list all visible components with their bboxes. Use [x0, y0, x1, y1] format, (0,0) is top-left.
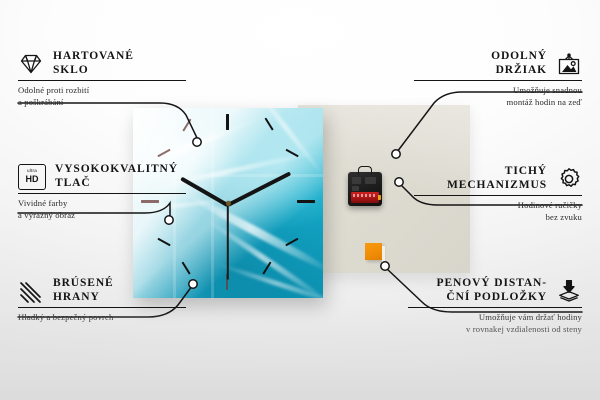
feature-polished-edges[interactable]: BRÚSENÉ HRANY Hladký a bezpečný povrch — [18, 277, 186, 324]
feature-title-line1: ODOLNÝ — [414, 50, 547, 64]
feature-foam-spacer-pads[interactable]: PENOVÝ DISTAN- ČNÍ PODLOŽKY Umožňuje vám… — [408, 277, 582, 335]
feature-head: ultra HD VYSOKOKVALITNÝ TLAČ — [18, 163, 186, 190]
clock-tick-12 — [226, 114, 228, 130]
press-down-layers-icon — [556, 278, 582, 304]
feature-desc-line1: Umožňuje snadnou — [414, 85, 582, 96]
battery-label — [353, 194, 376, 197]
mechanism-detail — [365, 177, 376, 184]
feature-desc-line1: Umožňuje vám držať hodiny — [408, 312, 582, 323]
ultra-hd-icon-main: HD — [26, 175, 39, 184]
feature-desc-line2: v rovnakej vzdialenosti od steny — [408, 324, 582, 335]
second-hand — [227, 204, 229, 280]
feature-title-line1: VYSOKOKVALITNÝ — [55, 163, 178, 177]
feature-desc-line2: a poškrábání — [18, 97, 186, 108]
feature-head: ODOLNÝ DRŽIAK — [414, 50, 582, 77]
feature-head: TICHÝ MECHANIZMUS — [414, 165, 582, 192]
feature-head: PENOVÝ DISTAN- ČNÍ PODLOŽKY — [408, 277, 582, 304]
mechanism-detail — [352, 186, 359, 191]
clock-center-pin — [226, 201, 231, 206]
feature-divider — [18, 307, 186, 308]
feature-durable-hanger[interactable]: ODOLNÝ DRŽIAK Umožňuje snadnou montáž ho… — [414, 50, 582, 108]
feature-divider — [414, 80, 582, 81]
feature-title-line2: TLAČ — [55, 177, 178, 191]
feature-desc-line1: Odolné proti rozbití — [18, 85, 186, 96]
feature-desc-line2: bez zvuku — [414, 212, 582, 223]
feature-desc-line1: Vividné farby — [18, 198, 186, 209]
clock-tick-3 — [297, 200, 315, 203]
feature-title-line2: DRŽIAK — [414, 64, 547, 78]
feature-divider — [414, 195, 582, 196]
feature-title-line2: HRANY — [53, 291, 114, 305]
feature-desc-line1: Hodinové ručičky — [414, 200, 582, 211]
feature-desc-line1: Hladký a bezpečný povrch — [18, 312, 186, 323]
feature-divider — [18, 80, 186, 81]
feature-title-line2: ČNÍ PODLOŽKY — [408, 291, 547, 305]
mechanism-detail — [352, 177, 361, 184]
feature-desc-line2: a výrazný obraz — [18, 210, 186, 221]
feature-title-line1: BRÚSENÉ — [53, 277, 114, 291]
foam-distance-pad — [365, 243, 382, 260]
gear-icon — [556, 166, 582, 192]
feature-title-line1: TICHÝ — [414, 165, 547, 179]
feature-desc-line2: montáž hodin na zeď — [414, 97, 582, 108]
feature-title-line1: PENOVÝ DISTAN- — [408, 277, 547, 291]
infographic-canvas: HARTOVANÉ SKLO Odolné proti rozbití a po… — [0, 0, 600, 400]
feature-high-quality-print[interactable]: ultra HD VYSOKOKVALITNÝ TLAČ Vividné far… — [18, 163, 186, 221]
diagonal-lines-icon — [18, 278, 44, 304]
feature-divider — [408, 307, 582, 308]
battery — [351, 192, 379, 203]
feature-tempered-glass[interactable]: HARTOVANÉ SKLO Odolné proti rozbití a po… — [18, 50, 186, 108]
feature-head: HARTOVANÉ SKLO — [18, 50, 186, 77]
feature-head: BRÚSENÉ HRANY — [18, 277, 186, 304]
feature-title-line2: SKLO — [53, 64, 134, 78]
reflection-mullion — [211, 108, 214, 298]
picture-frame-hanger-icon — [556, 51, 582, 77]
feature-title-line2: MECHANIZMUS — [414, 179, 547, 193]
diamond-icon — [18, 51, 44, 77]
feature-title-line1: HARTOVANÉ — [53, 50, 134, 64]
mechanism-hanger-hook — [358, 166, 372, 175]
feature-silent-mechanism[interactable]: TICHÝ MECHANIZMUS Hodinové ručičky bez z… — [414, 165, 582, 223]
feature-divider — [18, 193, 186, 194]
ultra-hd-icon: ultra HD — [18, 164, 46, 190]
clock-mechanism — [348, 172, 382, 206]
